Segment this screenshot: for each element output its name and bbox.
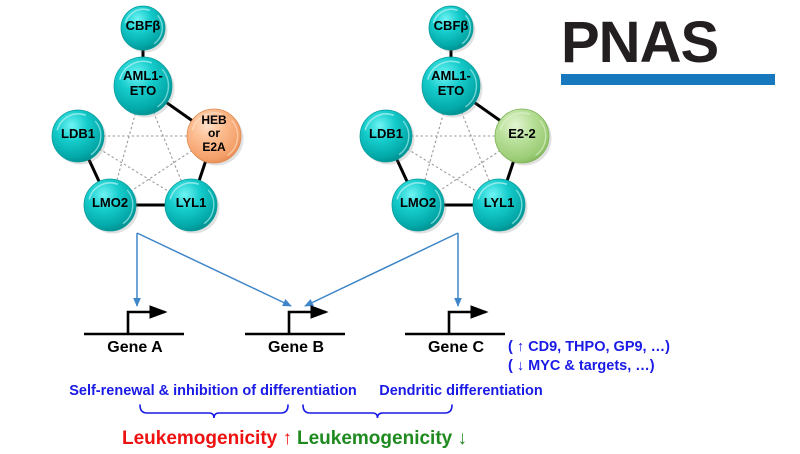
gene-annotation-gene-c-0: ( ↑ CD9, THPO, GP9, …)	[508, 339, 670, 355]
gene-annotation-gene-c-1: ( ↓ MYC & targets, …)	[508, 358, 655, 374]
node-label-cbfb-right: CBFβ	[51, 19, 800, 32]
node-label-heb-left: E2A	[0, 141, 614, 153]
text-overlay-layer: CBFβAML1-ETOLDB1HEBorE2ALMO2LYL1CBFβAML1…	[0, 0, 800, 454]
caption-dendritic: Dendritic differentiation	[61, 383, 800, 399]
gene-label-gene-c: Gene C	[56, 339, 800, 357]
node-label-lyl1-right: LYL1	[99, 196, 800, 209]
figure-canvas: PNAS CBFβAML1-ETOLDB1HEBorE2ALMO2LYL1CBF…	[0, 0, 800, 454]
node-label-e22-right: E2-2	[122, 127, 800, 140]
node-label-aml1eto-right: AML1-	[51, 69, 800, 82]
outcome-leukemogenicity-down: Leukemogenicity ↓	[0, 428, 782, 450]
node-label-aml1eto-right: ETO	[51, 84, 800, 97]
node-label-heb-left: HEB	[0, 114, 614, 126]
